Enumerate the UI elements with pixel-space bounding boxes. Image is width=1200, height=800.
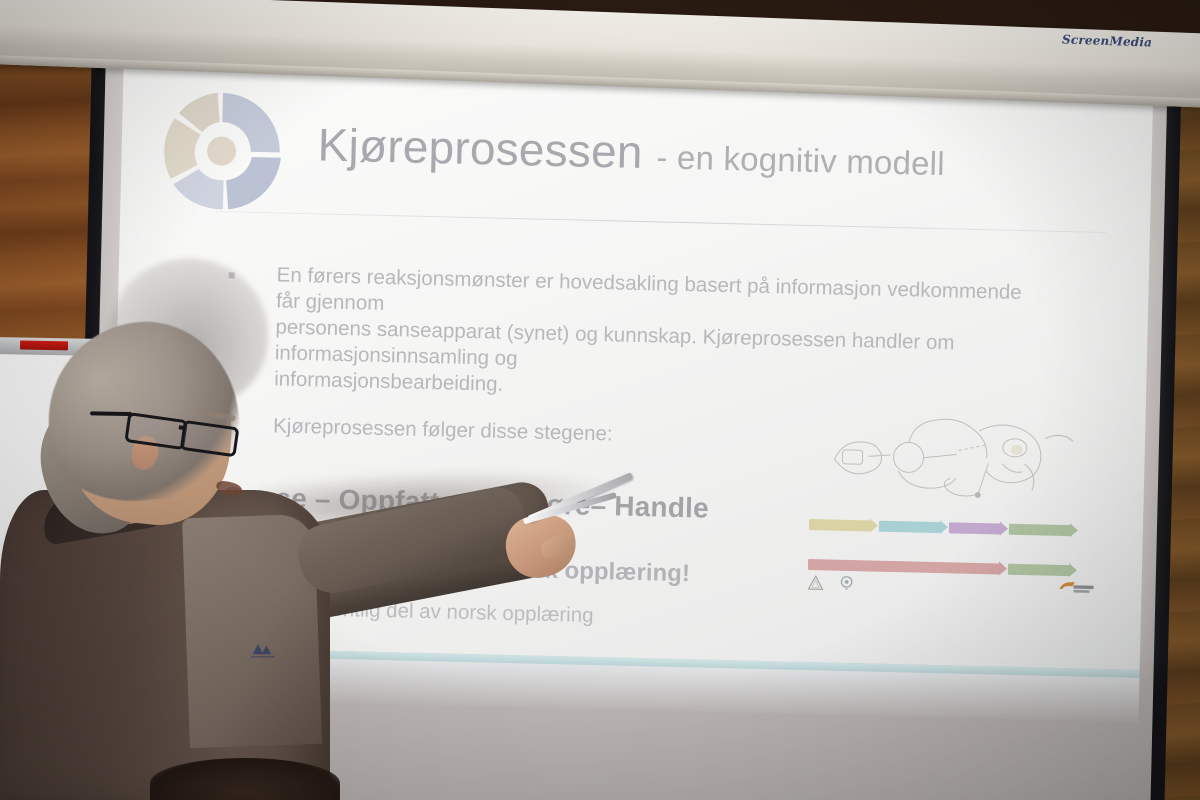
phase-bar-row: Sanse (se) Oppfatte Avgjøre bbox=[809, 505, 1102, 542]
phase-bar-sanse bbox=[809, 519, 871, 531]
presentation-photo: Kjøreprosessen- en kognitiv modell En fø… bbox=[0, 0, 1200, 800]
glasses-temple bbox=[90, 411, 132, 416]
segmented-ring-logo bbox=[154, 84, 289, 219]
warning-triangle-icon bbox=[807, 575, 823, 590]
reaction-time-diagram: Sanse (se) Oppfatte Avgjøre bbox=[801, 407, 1105, 604]
phase-bars: Sanse (se) Oppfatte Avgjøre bbox=[808, 505, 1102, 582]
title-divider bbox=[216, 211, 1106, 233]
phase-bar-handle bbox=[1009, 524, 1071, 536]
audience-head-foreground bbox=[150, 758, 340, 800]
sweater-brand-badge bbox=[246, 640, 280, 660]
info-circle-icon bbox=[839, 576, 853, 591]
presenter-pointing-at-screen bbox=[0, 340, 640, 800]
driver-brain-eye-pedal-schematic bbox=[827, 407, 1099, 509]
page-title: Kjøreprosessen- en kognitiv modell bbox=[317, 117, 945, 186]
brand-logo-mark bbox=[1057, 579, 1097, 596]
phase-bar-oppfatte bbox=[879, 521, 941, 533]
title-main: Kjøreprosessen bbox=[317, 118, 643, 178]
total-bar-bevegelse bbox=[1008, 564, 1070, 576]
slide-footer-icons bbox=[807, 575, 853, 591]
phase-bar-avgjore bbox=[949, 522, 1001, 534]
title-subtitle: - en kognitiv modell bbox=[656, 138, 945, 182]
